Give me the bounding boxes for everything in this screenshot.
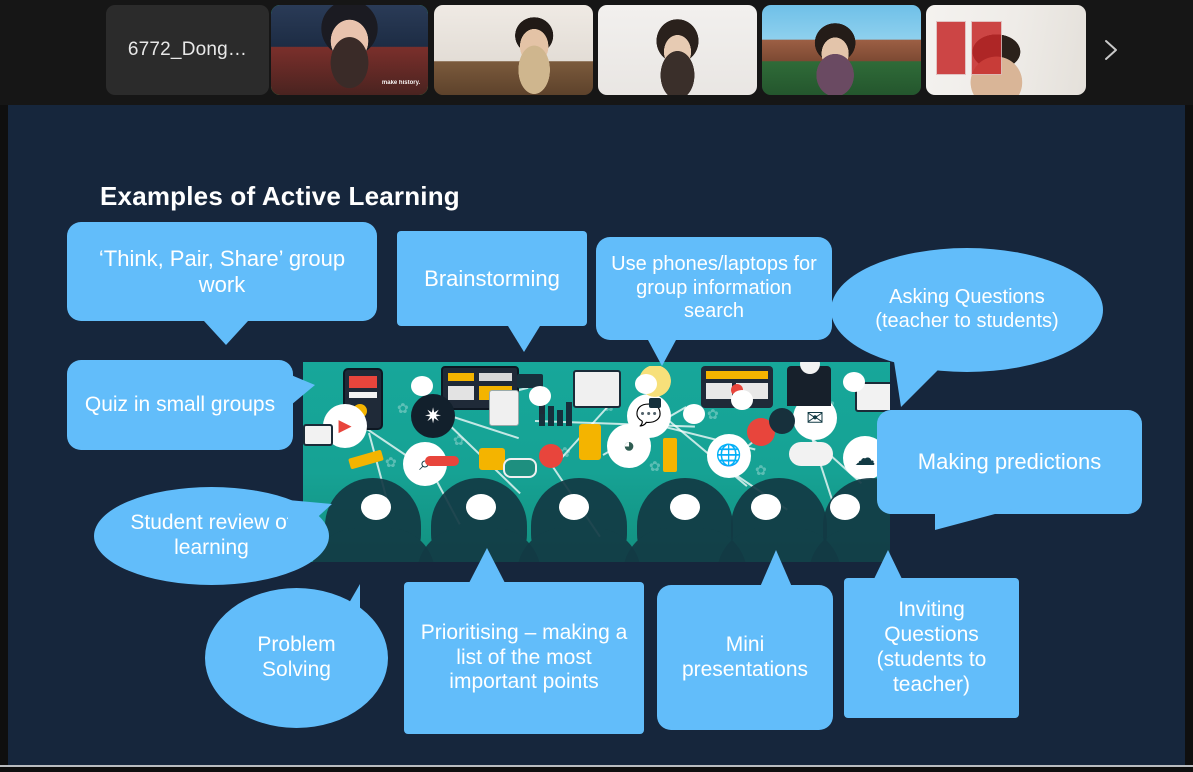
gear-icon: ✿ [385, 454, 397, 471]
participant-tile-4[interactable] [762, 5, 921, 95]
bubble-tail [288, 500, 332, 544]
bubble-label: Prioritising – making a list of the most… [414, 621, 634, 695]
head-silhouette [531, 478, 627, 562]
idea-node [843, 372, 865, 392]
idea-node [466, 494, 496, 520]
idea-node [751, 494, 781, 520]
bubble-tail [204, 321, 248, 345]
envelope-icon [303, 424, 333, 446]
participant-video [598, 5, 757, 95]
bubble-use-phones-laptops[interactable]: Use phones/laptops for group information… [596, 237, 832, 340]
user-avatar-icon [787, 366, 831, 406]
bubble-label: Use phones/laptops for group information… [608, 253, 820, 324]
page-title: Examples of Active Learning [100, 181, 460, 212]
cloud-icon [789, 442, 833, 466]
pie-chart-icon: ◕ [607, 424, 651, 468]
idea-node [731, 390, 753, 410]
shared-slide: Examples of Active Learning ✿ ✿ ✿ ✿ ✿ ✿ … [8, 105, 1185, 765]
idea-node [683, 404, 705, 424]
bubble-tail [469, 548, 505, 583]
participant-tile-3[interactable] [598, 5, 757, 95]
bubble-inviting-questions[interactable]: Inviting Questions (students to teacher) [844, 578, 1019, 718]
participant-video [926, 5, 1086, 95]
bubble-making-predictions[interactable]: Making predictions [877, 410, 1142, 514]
bubble-tail [874, 550, 902, 579]
bubble-quiz-small-groups[interactable]: Quiz in small groups [67, 360, 293, 450]
idea-node [635, 374, 657, 394]
gear-icon: ✿ [649, 458, 661, 475]
bubble-asking-questions[interactable]: Asking Questions (teacher to students) [831, 248, 1103, 372]
alert-icon [539, 444, 563, 468]
gear-icon: ✿ [453, 432, 465, 449]
gear-icon: ✿ [707, 406, 719, 423]
bubble-tail [508, 326, 540, 352]
gear-icon [769, 408, 795, 434]
pencil-icon [579, 424, 601, 460]
folder-icon [479, 448, 505, 470]
chat-icon [425, 456, 459, 466]
head-silhouette [325, 478, 421, 562]
bubble-tail [338, 584, 360, 622]
participant-filmstrip: 6772_Dong… make history. [0, 0, 1193, 105]
bubble-brainstorming[interactable]: Brainstorming [397, 231, 587, 326]
pencil-icon [663, 438, 677, 472]
idea-node [529, 386, 551, 406]
bubble-label: Student review of learning [116, 511, 307, 561]
participant-video [762, 5, 921, 95]
bubble-problem-solving[interactable]: Problem Solving [205, 588, 388, 728]
bubble-tail [291, 375, 315, 405]
participant-tile-2[interactable] [434, 5, 593, 95]
head-silhouette [637, 478, 733, 562]
bubble-tail [760, 550, 792, 587]
bubble-mini-presentations[interactable]: Mini presentations [657, 585, 833, 730]
bubble-label: Mini presentations [667, 633, 823, 683]
idea-node [361, 494, 391, 520]
participant-tile-5[interactable] [926, 5, 1086, 95]
head-silhouettes [303, 476, 890, 562]
gear-icon: ✷ [411, 394, 455, 438]
wall-poster [936, 21, 967, 75]
chevron-right-icon[interactable] [1100, 38, 1122, 62]
document-icon [489, 390, 519, 426]
idea-node [411, 376, 433, 396]
active-learning-infographic: ✿ ✿ ✿ ✿ ✿ ✿ ✿ ✿ ✿ ✿ ✿ ▶ ✷ ⌕ 💬 🌐 ✉ ☁ [303, 362, 890, 562]
document-icon [573, 370, 621, 408]
participant-tile-active-speaker[interactable]: make history. [271, 5, 428, 95]
wall-poster [971, 21, 1002, 75]
bubble-tail [648, 340, 676, 366]
bubble-think-pair-share[interactable]: ‘Think, Pair, Share’ group work [67, 222, 377, 321]
bubble-label: Brainstorming [424, 266, 560, 292]
bubble-label: ‘Think, Pair, Share’ group work [83, 246, 361, 298]
bubble-prioritising[interactable]: Prioritising – making a list of the most… [404, 582, 644, 734]
bubble-tail [893, 355, 953, 407]
bubble-label: Making predictions [918, 449, 1101, 475]
participant-video [434, 5, 593, 95]
bubble-tail [935, 506, 1025, 530]
bubble-label: Inviting Questions (students to teacher) [852, 598, 1011, 697]
participant-name-label: 6772_Dong… [128, 39, 247, 61]
gear-icon: ✿ [397, 400, 409, 417]
bubble-label: Asking Questions (teacher to students) [857, 286, 1077, 333]
globe-icon: 🌐 [707, 434, 751, 478]
bubble-label: Quiz in small groups [85, 393, 275, 418]
bubble-label: Problem Solving [225, 633, 368, 683]
participant-tile-name-only[interactable]: 6772_Dong… [106, 5, 269, 95]
bottom-divider [0, 765, 1193, 767]
idea-node [559, 494, 589, 520]
tag-icon [503, 458, 537, 478]
video-overlay-text: make history. [382, 80, 420, 86]
idea-node [670, 494, 700, 520]
idea-node [830, 494, 860, 520]
